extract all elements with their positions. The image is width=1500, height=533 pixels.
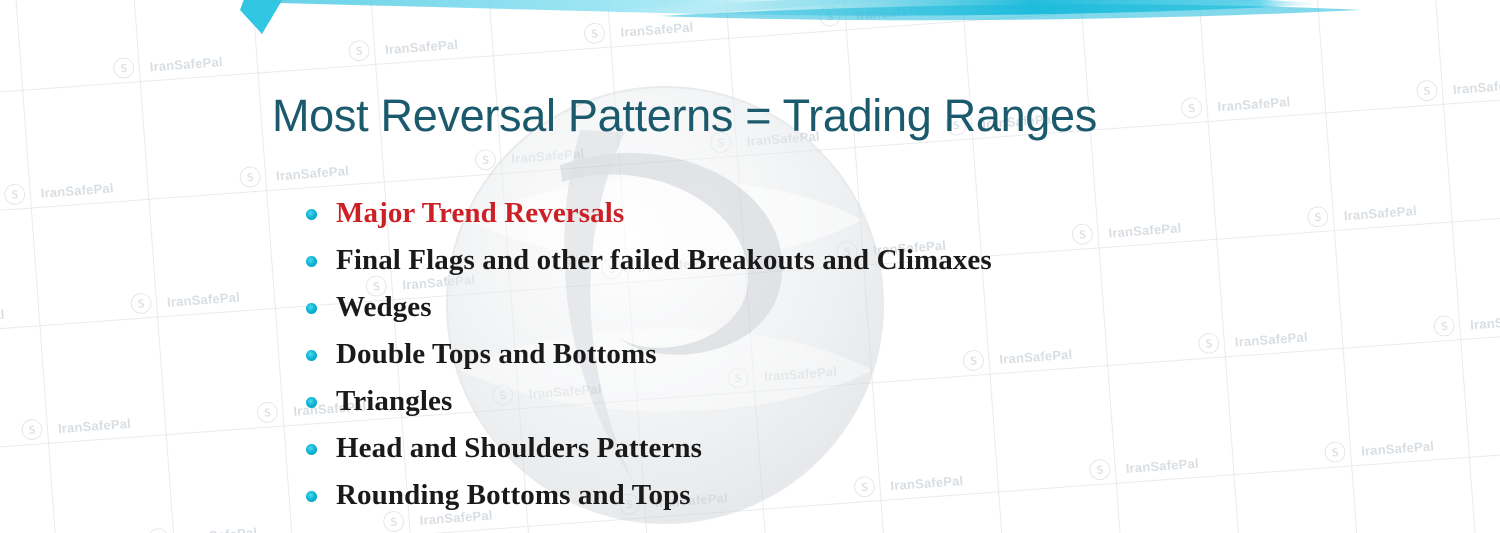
bullet-dot-icon — [306, 444, 317, 455]
list-item: Head and Shoulders Patterns — [300, 425, 992, 472]
bullet-dot-icon — [306, 209, 317, 220]
list-item-label: Head and Shoulders Patterns — [336, 432, 702, 465]
bullet-dot-icon — [306, 303, 317, 314]
list-item-label: Final Flags and other failed Breakouts a… — [336, 244, 992, 277]
list-item: Double Tops and Bottoms — [300, 331, 992, 378]
slide-title: Most Reversal Patterns = Trading Ranges — [272, 90, 1097, 142]
list-item: Wedges — [300, 284, 992, 331]
list-item-label: Rounding Bottoms and Tops — [336, 479, 691, 512]
list-item-label: Triangles — [336, 385, 452, 418]
list-item-label: Double Tops and Bottoms — [336, 338, 657, 371]
bullet-dot-icon — [306, 491, 317, 502]
bullet-dot-icon — [306, 256, 317, 267]
list-item: Major Trend Reversals — [300, 190, 992, 237]
presentation-slide: IranSafePalⓢIranSafePalⓢIranSafePalⓢIran… — [0, 0, 1500, 533]
list-item-label: Wedges — [336, 291, 432, 324]
bullet-dot-icon — [306, 397, 317, 408]
bullet-dot-icon — [306, 350, 317, 361]
list-item-label: Major Trend Reversals — [336, 197, 624, 230]
list-item: Rounding Bottoms and Tops — [300, 472, 992, 519]
list-item: Final Flags and other failed Breakouts a… — [300, 237, 992, 284]
bullet-list: Major Trend ReversalsFinal Flags and oth… — [300, 190, 992, 519]
list-item: Triangles — [300, 378, 992, 425]
slide-content: Most Reversal Patterns = Trading Ranges … — [0, 0, 1500, 533]
